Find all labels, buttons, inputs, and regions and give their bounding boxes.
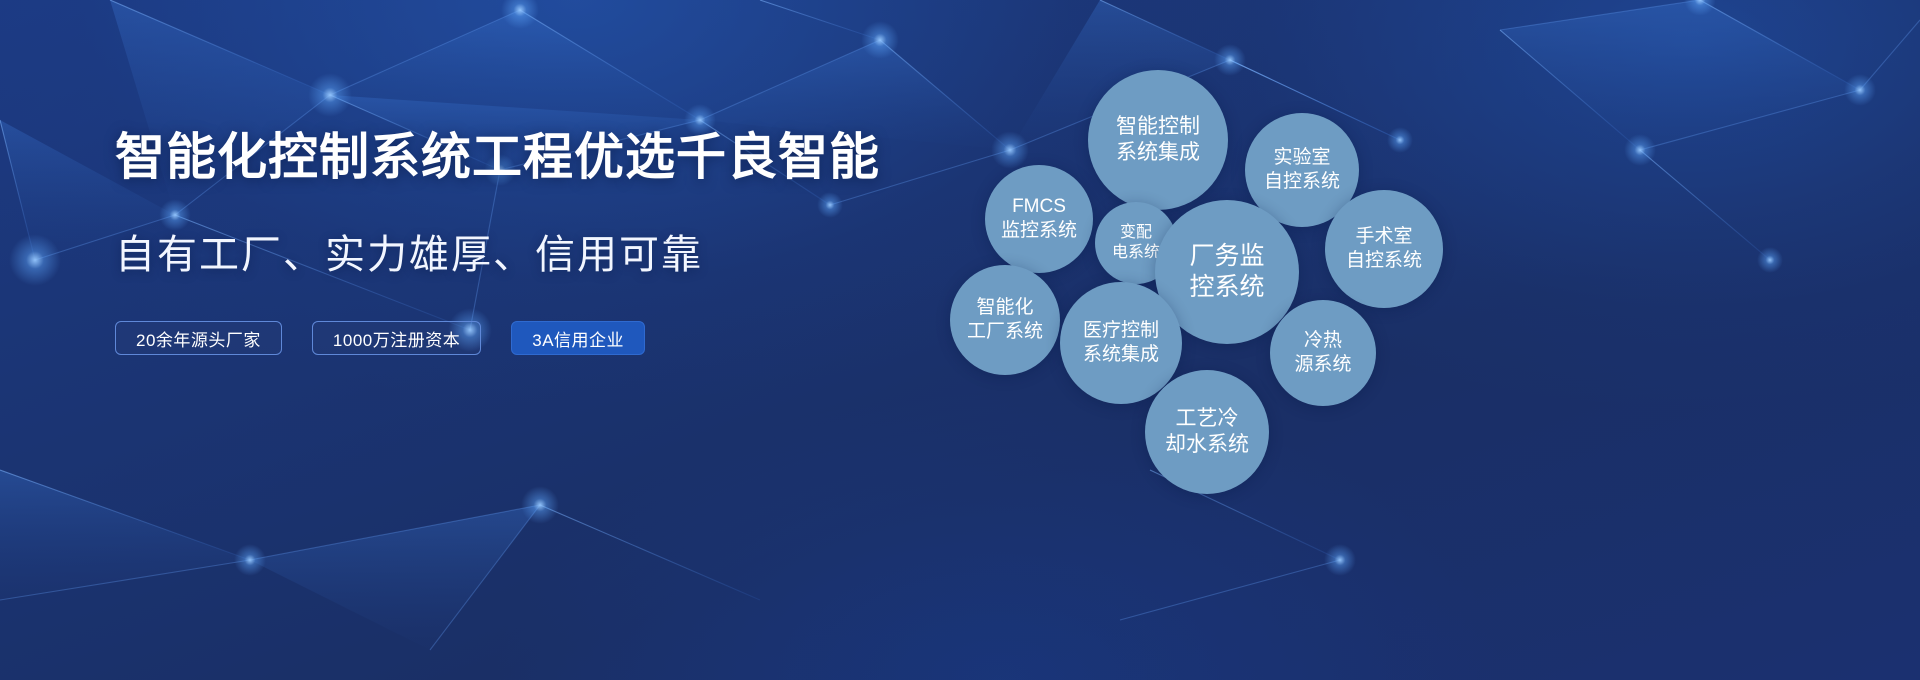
bubble-label: 智能控制系统集成: [1110, 114, 1206, 167]
bubble-intelligent-factory[interactable]: 智能化工厂系统: [950, 265, 1060, 375]
bubble-label: 智能化工厂系统: [961, 296, 1049, 344]
banner-subtitle: 自有工厂、实力雄厚、信用可靠: [115, 231, 975, 279]
badge-1[interactable]: 1000万注册资本: [312, 321, 481, 355]
badge-0[interactable]: 20余年源头厂家: [115, 321, 282, 355]
bubble-label: 实验室自控系统: [1258, 146, 1346, 194]
bubble-label: 冷热源系统: [1288, 329, 1357, 377]
hero-banner: 智能化控制系统工程优选千良智能 自有工厂、实力雄厚、信用可靠 20余年源头厂家1…: [0, 0, 1920, 680]
page-title: 智能化控制系统工程优选千良智能: [115, 128, 975, 187]
bubble-fmcs-monitoring[interactable]: FMCS监控系统: [985, 165, 1093, 273]
badge-2[interactable]: 3A信用企业: [511, 321, 645, 355]
bubble-label: FMCS监控系统: [995, 195, 1083, 243]
bubble-label: 厂务监控系统: [1183, 241, 1270, 304]
bubble-process-cooling-water[interactable]: 工艺冷却水系统: [1145, 370, 1269, 494]
badge-list: 20余年源头厂家1000万注册资本3A信用企业: [115, 321, 975, 355]
bubble-label: 手术室自控系统: [1340, 225, 1428, 273]
bubble-label: 工艺冷却水系统: [1159, 406, 1255, 459]
banner-copy-block: 智能化控制系统工程优选千良智能 自有工厂、实力雄厚、信用可靠 20余年源头厂家1…: [115, 128, 975, 355]
service-bubble-cluster: 智能控制系统集成实验室自控系统手术室自控系统FMCS监控系统变配电系统厂务监控系…: [930, 0, 1920, 680]
bubble-operating-room-automation[interactable]: 手术室自控系统: [1325, 190, 1443, 308]
bubble-cold-heat-source[interactable]: 冷热源系统: [1270, 300, 1376, 406]
bubble-label: 医疗控制系统集成: [1077, 319, 1165, 367]
bubble-intelligent-control-integration[interactable]: 智能控制系统集成: [1088, 70, 1228, 210]
